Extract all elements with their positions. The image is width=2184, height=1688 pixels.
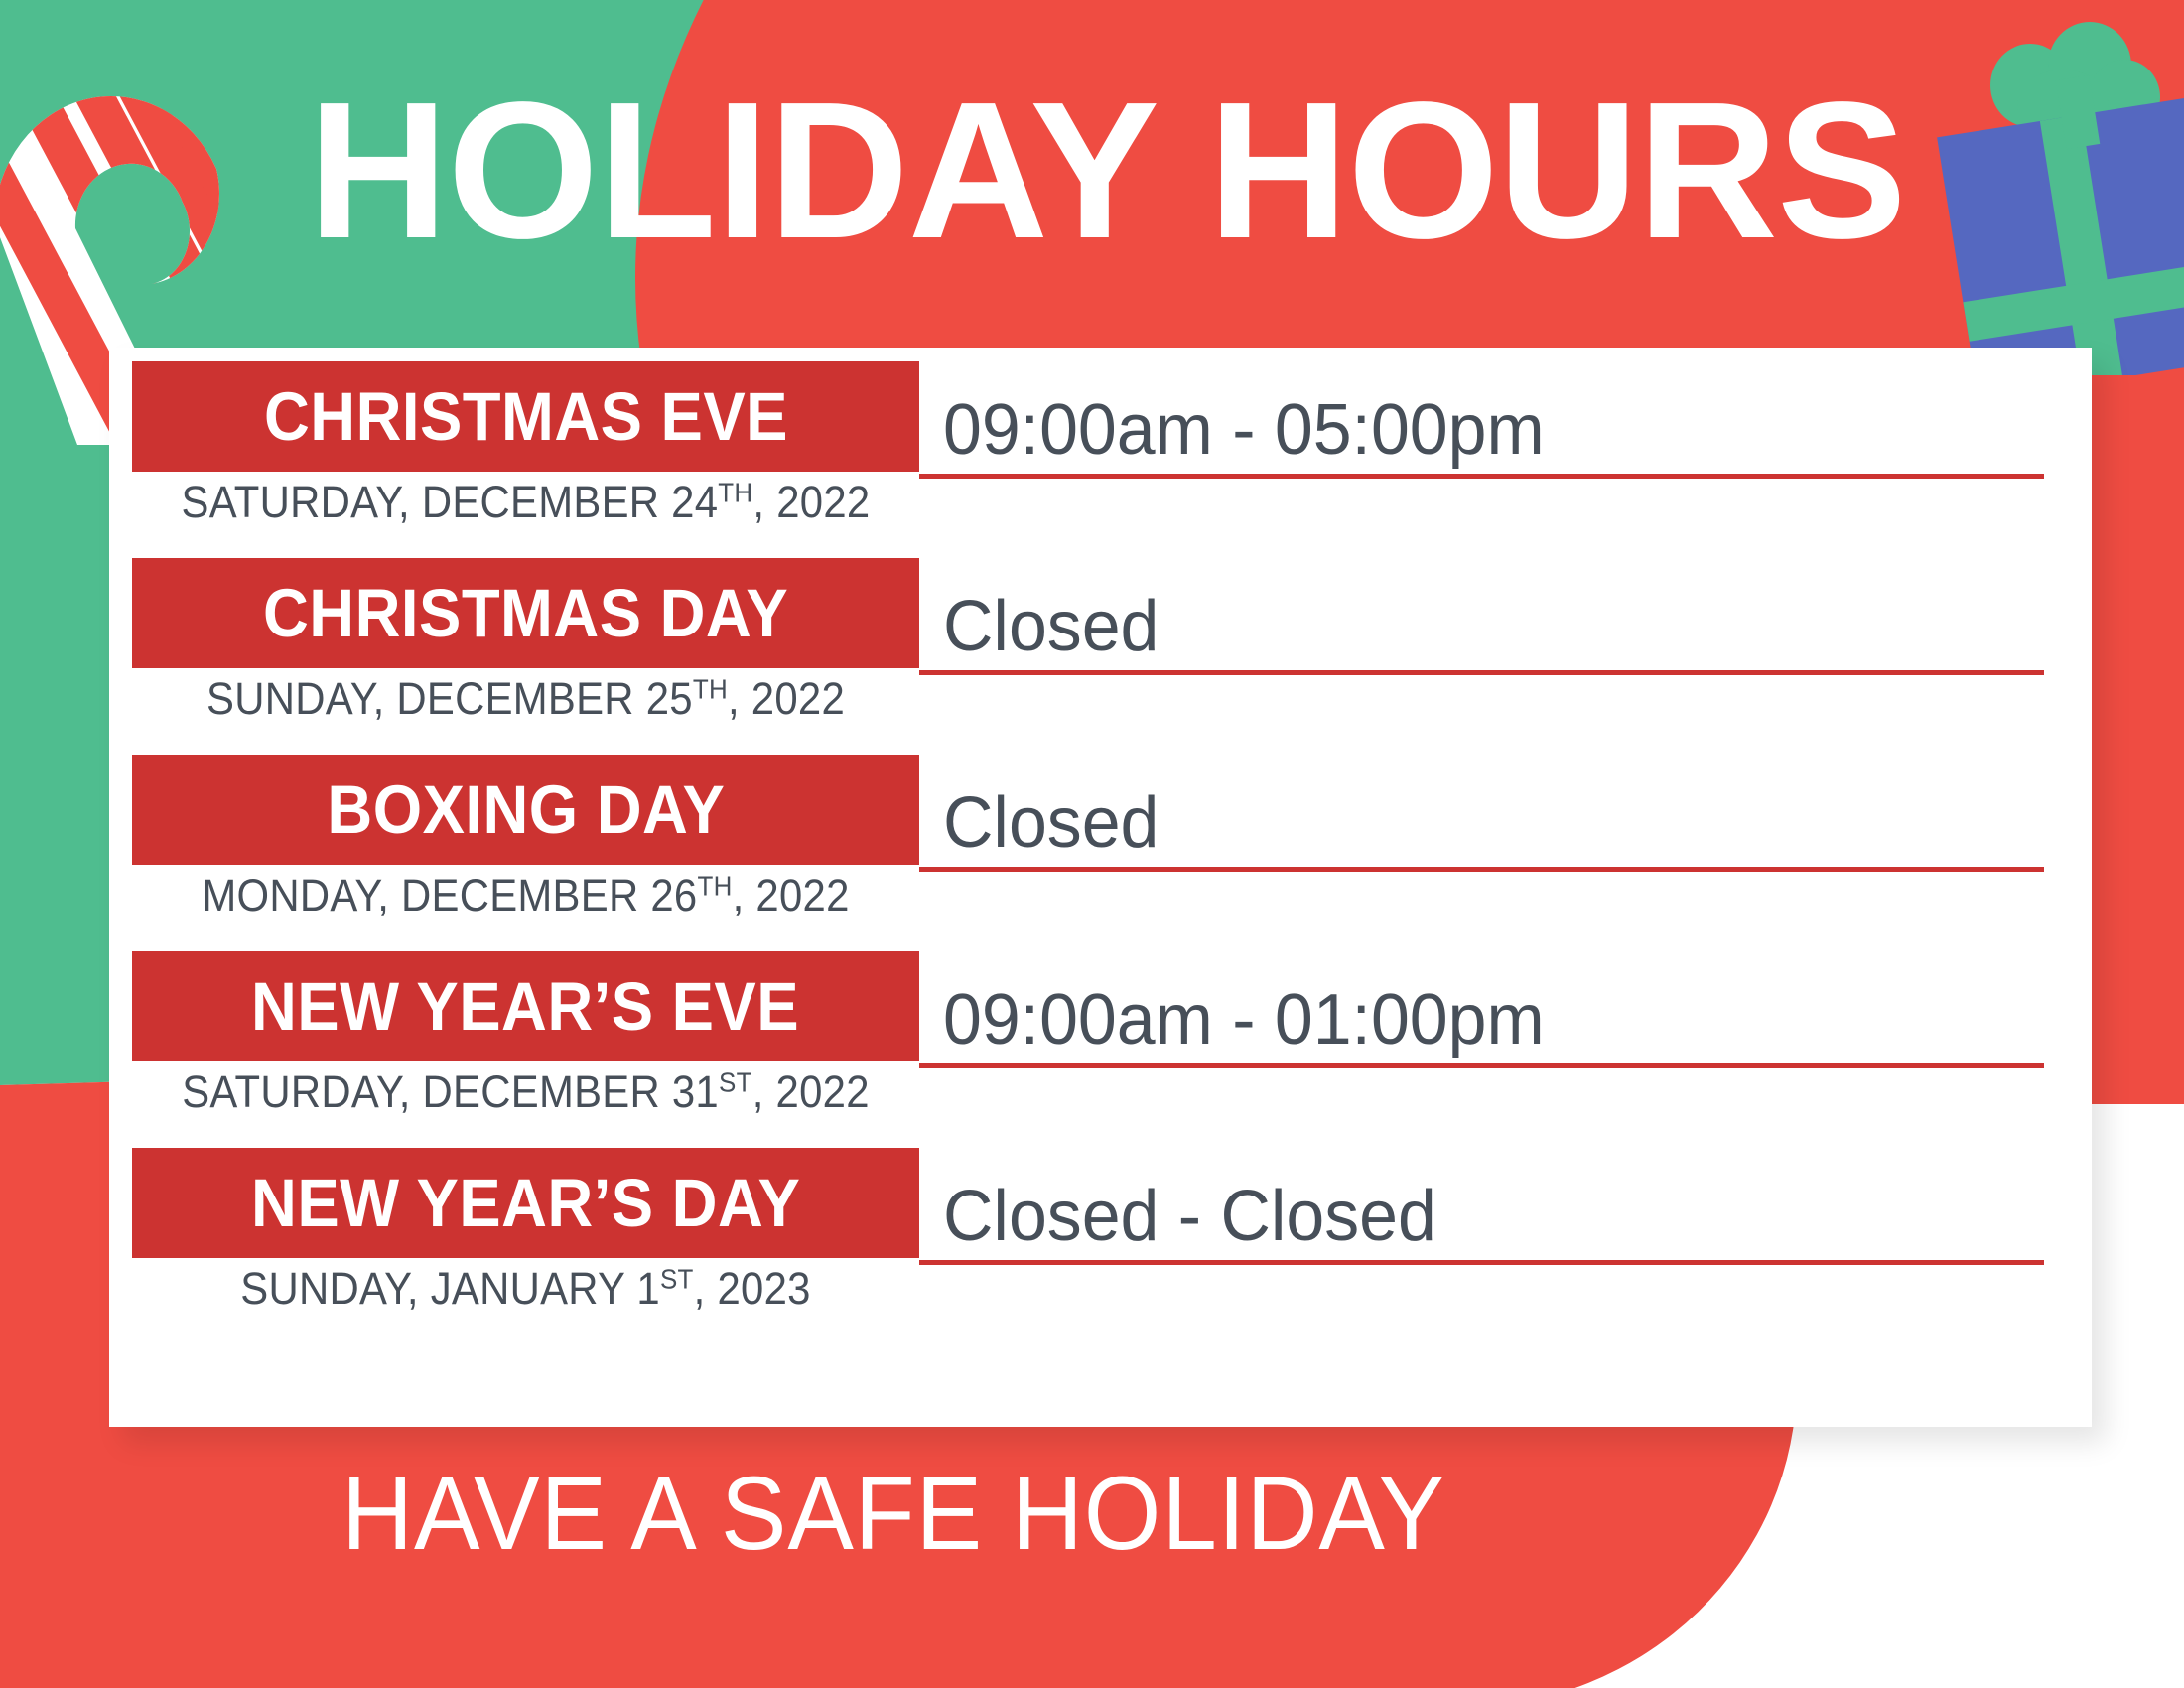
holiday-date: SUNDAY, JANUARY 1ST, 2023 bbox=[160, 1263, 891, 1315]
holiday-date-prefix: SUNDAY, JANUARY 1 bbox=[240, 1263, 660, 1314]
holiday-hours-cell: 09:00am - 01:00pm bbox=[919, 951, 2061, 1068]
holiday-label-bar: BOXING DAY bbox=[132, 755, 919, 865]
holiday-date-suffix: , 2022 bbox=[733, 870, 850, 920]
holiday-hours-cell: Closed bbox=[919, 558, 2061, 675]
holiday-date: SATURDAY, DECEMBER 31ST, 2022 bbox=[160, 1066, 891, 1118]
hours-underline bbox=[919, 670, 2044, 675]
holiday-date-prefix: SUNDAY, DECEMBER 25 bbox=[206, 673, 693, 724]
holiday-date-ordinal: ST bbox=[719, 1067, 752, 1098]
holiday-date-suffix: , 2023 bbox=[694, 1263, 811, 1314]
holiday-hours-cell: 09:00am - 05:00pm bbox=[919, 361, 2061, 479]
holiday-name: CHRISTMAS DAY bbox=[263, 574, 788, 652]
holiday-name: NEW YEAR’S EVE bbox=[251, 967, 799, 1046]
holiday-date-suffix: , 2022 bbox=[728, 673, 845, 724]
gift-box-body bbox=[1937, 98, 2184, 375]
holiday-date-suffix: , 2022 bbox=[752, 477, 870, 527]
gift-box-icon bbox=[1936, 18, 2184, 375]
holiday-hours-cell: Closed bbox=[919, 755, 2061, 872]
hours-underline bbox=[919, 474, 2044, 479]
holiday-date-prefix: MONDAY, DECEMBER 26 bbox=[202, 870, 697, 920]
table-row: CHRISTMAS DAY SUNDAY, DECEMBER 25TH, 202… bbox=[109, 558, 2092, 755]
hours-underline bbox=[919, 867, 2044, 872]
holiday-hours: 09:00am - 01:00pm bbox=[943, 981, 1545, 1058]
holiday-label-bar: CHRISTMAS EVE bbox=[132, 361, 919, 472]
holiday-hours-cell: Closed - Closed bbox=[919, 1148, 2061, 1265]
holiday-hours: 09:00am - 05:00pm bbox=[943, 391, 1545, 469]
holiday-label-bar: CHRISTMAS DAY bbox=[132, 558, 919, 668]
schedule-rows: CHRISTMAS EVE SATURDAY, DECEMBER 24TH, 2… bbox=[109, 348, 2092, 1427]
footer-message: HAVE A SAFE HOLIDAY bbox=[45, 1455, 1742, 1574]
page-title: HOLIDAY HOURS bbox=[308, 71, 1956, 270]
table-row: NEW YEAR’S EVE SATURDAY, DECEMBER 31ST, … bbox=[109, 951, 2092, 1148]
holiday-date: MONDAY, DECEMBER 26TH, 2022 bbox=[160, 870, 891, 921]
holiday-name: BOXING DAY bbox=[327, 771, 725, 849]
holiday-hours: Closed bbox=[943, 588, 1159, 665]
holiday-name: NEW YEAR’S DAY bbox=[251, 1164, 800, 1242]
holiday-date-prefix: SATURDAY, DECEMBER 31 bbox=[182, 1066, 719, 1117]
schedule-card: CHRISTMAS EVE SATURDAY, DECEMBER 24TH, 2… bbox=[109, 348, 2092, 1427]
holiday-date: SATURDAY, DECEMBER 24TH, 2022 bbox=[160, 477, 891, 528]
table-row: BOXING DAY MONDAY, DECEMBER 26TH, 2022 C… bbox=[109, 755, 2092, 951]
holiday-date: SUNDAY, DECEMBER 25TH, 2022 bbox=[160, 673, 891, 725]
table-row: CHRISTMAS EVE SATURDAY, DECEMBER 24TH, 2… bbox=[109, 361, 2092, 558]
holiday-date-ordinal: TH bbox=[718, 478, 752, 508]
hours-underline bbox=[919, 1260, 2044, 1265]
holiday-label-bar: NEW YEAR’S EVE bbox=[132, 951, 919, 1061]
holiday-date-prefix: SATURDAY, DECEMBER 24 bbox=[182, 477, 719, 527]
holiday-date-ordinal: ST bbox=[660, 1264, 694, 1295]
holiday-name: CHRISTMAS EVE bbox=[264, 377, 788, 456]
holiday-label-bar: NEW YEAR’S DAY bbox=[132, 1148, 919, 1258]
table-row: NEW YEAR’S DAY SUNDAY, JANUARY 1ST, 2023… bbox=[109, 1148, 2092, 1344]
holiday-hours: Closed bbox=[943, 784, 1159, 862]
hours-underline bbox=[919, 1063, 2044, 1068]
holiday-hours: Closed - Closed bbox=[943, 1178, 1436, 1255]
holiday-date-suffix: , 2022 bbox=[752, 1066, 870, 1117]
holiday-date-ordinal: TH bbox=[697, 871, 732, 902]
holiday-date-ordinal: TH bbox=[693, 674, 728, 705]
holiday-hours-poster: HOLIDAY HOURS CHRISTMAS EVE SATURDAY, DE… bbox=[0, 0, 2184, 1688]
